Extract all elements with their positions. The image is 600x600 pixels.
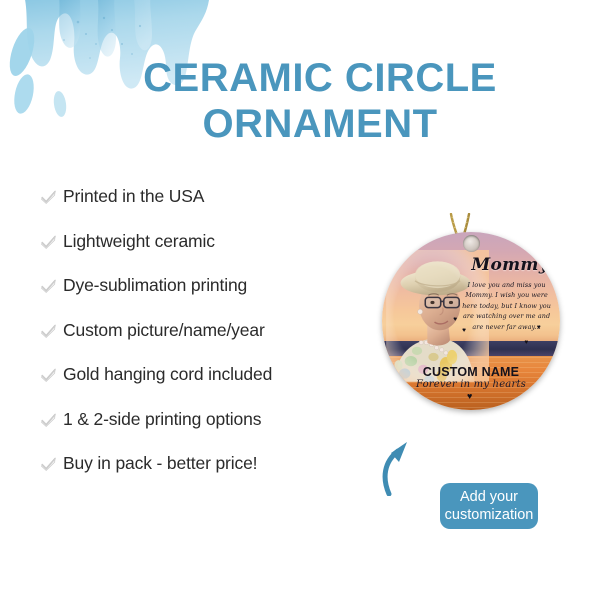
heart-icon: ♥	[467, 392, 472, 401]
list-item-label: Lightweight ceramic	[63, 231, 215, 252]
check-mark-icon	[40, 412, 57, 434]
ornament-heading: Mommy	[464, 255, 557, 275]
page-title: CERAMIC CIRCLE ORNAMENT	[105, 58, 535, 145]
curved-arrow-up-right-icon	[378, 440, 424, 496]
list-item: Custom picture/name/year	[40, 320, 370, 345]
cord-grommet	[463, 235, 480, 252]
product-promo-page: CERAMIC CIRCLE ORNAMENT Printed in the U…	[0, 0, 600, 600]
check-mark-icon	[40, 234, 57, 256]
check-mark-icon	[40, 456, 57, 478]
list-item: Buy in pack - better price!	[40, 453, 370, 478]
list-item: Lightweight ceramic	[40, 231, 370, 256]
check-mark-icon	[40, 367, 57, 389]
add-customization-badge[interactable]: Add your customization	[440, 483, 538, 529]
list-item: Gold hanging cord included	[40, 364, 370, 389]
ornament-subtitle: Forever in my hearts	[396, 379, 546, 390]
product-image: Mommy I love you and miss you Mommy. I w…	[360, 205, 575, 445]
ceramic-circle-ornament: Mommy I love you and miss you Mommy. I w…	[382, 232, 560, 410]
list-item-label: Printed in the USA	[63, 186, 204, 207]
list-item-label: Gold hanging cord included	[63, 364, 272, 385]
ornament-custom-name: CUSTOM NAME	[396, 365, 546, 379]
check-mark-icon	[40, 323, 57, 345]
ornament-poem: I love you and miss you Mommy. I wish yo…	[457, 280, 557, 332]
badge-label-line-1: Add your	[460, 488, 518, 506]
list-item-label: Buy in pack - better price!	[63, 453, 257, 474]
list-item-label: Dye-sublimation printing	[63, 275, 247, 296]
check-mark-icon	[40, 189, 57, 211]
heart-icon: ♥	[537, 325, 541, 332]
page-title-line-2: ORNAMENT	[105, 104, 535, 145]
list-item: Printed in the USA	[40, 186, 370, 211]
heart-icon: ♥	[462, 328, 466, 335]
list-item: Dye-sublimation printing	[40, 275, 370, 300]
heart-icon: ♥	[453, 317, 457, 324]
list-item-label: 1 & 2-side printing options	[63, 409, 261, 430]
check-mark-icon	[40, 278, 57, 300]
heart-icon: ♥	[524, 340, 528, 347]
list-item: 1 & 2-side printing options	[40, 409, 370, 434]
list-item-label: Custom picture/name/year	[63, 320, 265, 341]
page-title-line-1: CERAMIC CIRCLE	[105, 58, 535, 99]
badge-label-line-2: customization	[445, 506, 534, 524]
feature-list: Printed in the USA Lightweight ceramic D…	[40, 186, 370, 498]
